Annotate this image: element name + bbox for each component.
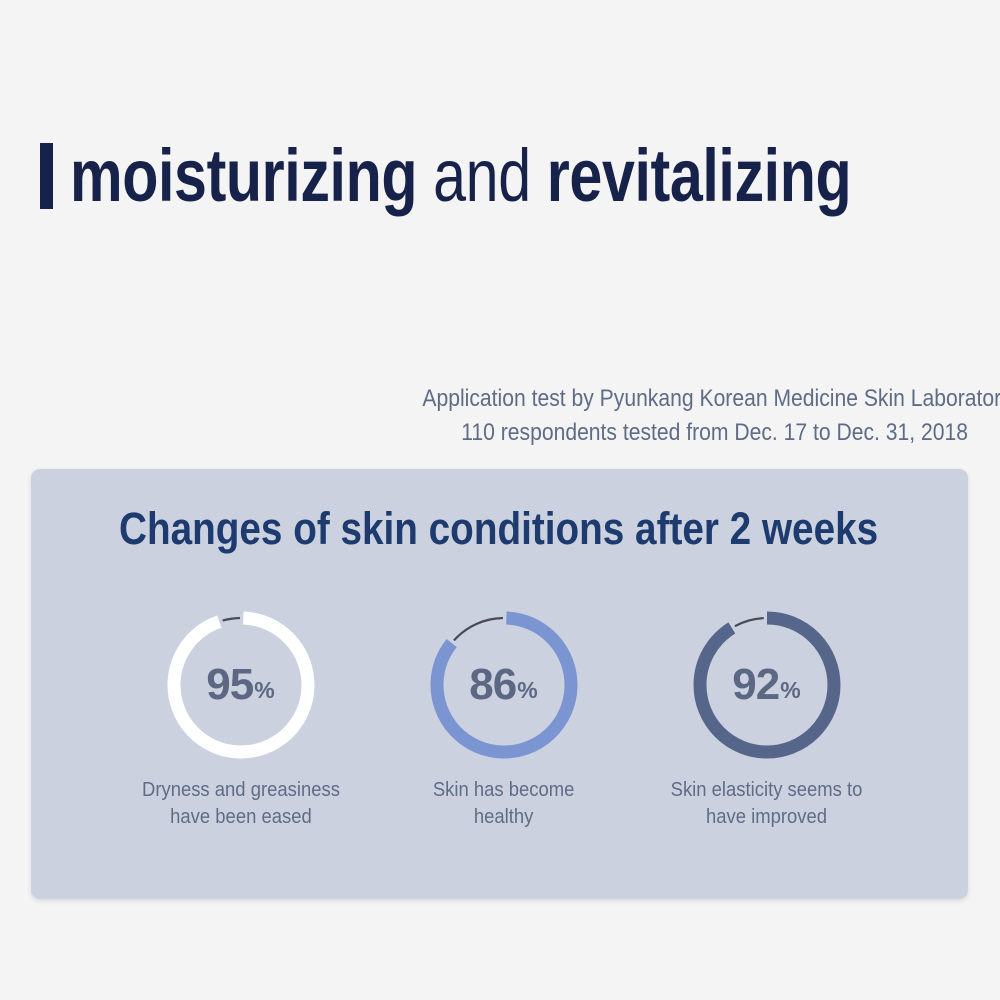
panel-title: Changes of skin conditions after 2 weeks [119, 506, 878, 551]
donut-center-value-2: 92 % [693, 611, 841, 759]
donut-chart-1: 86 % [430, 611, 578, 759]
headline-word-moisturizing: moisturizing [70, 134, 417, 217]
page-headline: moisturizing and revitalizing [40, 131, 1000, 221]
donut-caption-2-line2: have improved [671, 803, 863, 830]
study-credit-line-2: 110 respondents tested from Dec. 17 to D… [422, 416, 968, 450]
donut-caption-0-line2: have been eased [142, 803, 340, 830]
headline-word-revitalizing: revitalizing [547, 134, 851, 217]
study-credit-block: Application test by Pyunkang Korean Medi… [348, 382, 968, 450]
donut-chart-item: 86 % Skin has become healthy [372, 611, 635, 830]
donut-caption-0: Dryness and greasiness have been eased [131, 776, 351, 830]
donut-caption-0-line1: Dryness and greasiness [142, 776, 340, 803]
donut-number-1: 86 [469, 663, 516, 707]
accent-bar-icon [40, 143, 53, 209]
donut-chart-item: 95 % Dryness and greasiness have been ea… [109, 611, 372, 830]
donut-chart-item: 92 % Skin elasticity seems to have impro… [635, 611, 898, 830]
donut-number-2: 92 [732, 663, 779, 707]
donut-center-value-0: 95 % [167, 611, 315, 759]
donut-chart-0: 95 % [167, 611, 315, 759]
study-credit-line-1: Application test by Pyunkang Korean Medi… [422, 382, 968, 416]
results-panel: Changes of skin conditions after 2 weeks… [31, 469, 968, 899]
donut-caption-1: Skin has become healthy [425, 776, 582, 830]
donut-center-value-1: 86 % [430, 611, 578, 759]
donut-chart-row: 95 % Dryness and greasiness have been ea… [109, 611, 899, 830]
donut-caption-2-line1: Skin elasticity seems to [671, 776, 863, 803]
donut-caption-1-line2: healthy [433, 803, 575, 830]
headline-conjunction: and [417, 134, 547, 217]
headline-text: moisturizing and revitalizing [70, 139, 851, 213]
donut-percent-sign-0: % [254, 679, 274, 702]
donut-percent-sign-1: % [517, 679, 537, 702]
donut-number-0: 95 [206, 663, 253, 707]
donut-chart-2: 92 % [693, 611, 841, 759]
donut-caption-2: Skin elasticity seems to have improved [660, 776, 873, 830]
donut-percent-sign-2: % [780, 679, 800, 702]
donut-caption-1-line1: Skin has become [433, 776, 575, 803]
